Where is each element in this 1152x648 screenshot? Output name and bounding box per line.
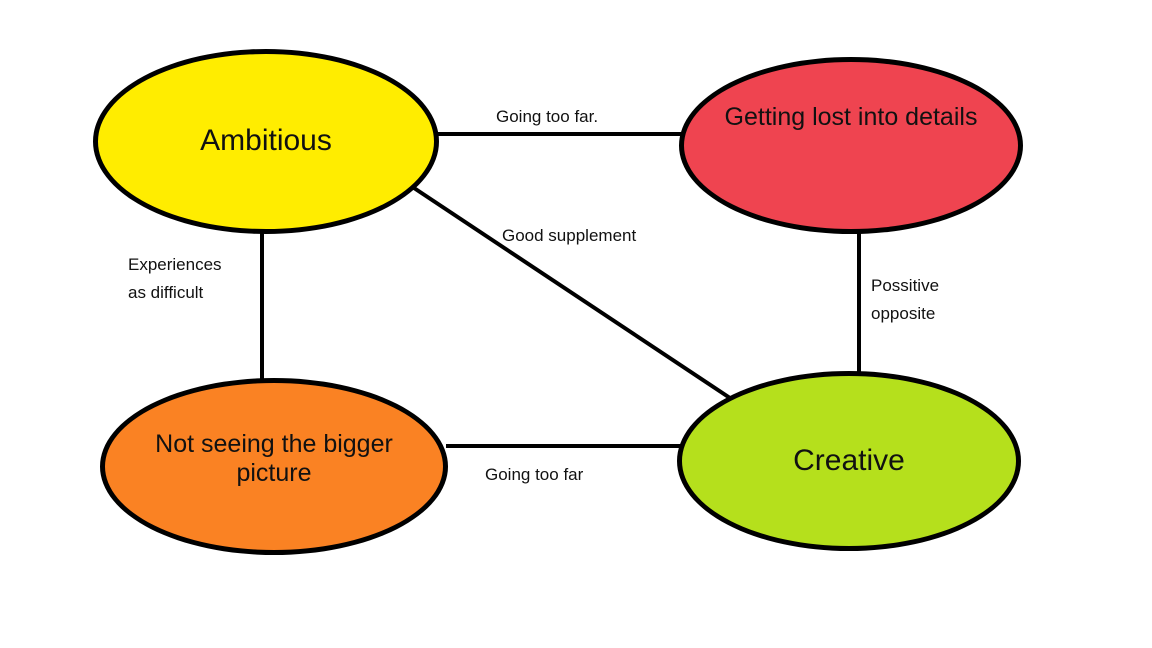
edge-label-bigger-picture-creative: Going too far — [485, 461, 583, 489]
node-getting-lost-into-details-label: Getting lost into details — [707, 103, 996, 132]
node-creative[interactable]: Creative — [677, 371, 1021, 551]
edge-label-ambitious-creative: Good supplement — [502, 222, 636, 250]
node-not-seeing-the-bigger-picture[interactable]: Not seeing the bigger picture — [100, 378, 448, 555]
edge-label-ambitious-details: Going too far. — [496, 103, 598, 131]
node-ambitious-label: Ambitious — [182, 124, 350, 159]
edge-label-details-creative: Possitive opposite — [871, 272, 939, 328]
node-ambitious[interactable]: Ambitious — [93, 49, 439, 234]
node-getting-lost-into-details[interactable]: Getting lost into details — [679, 57, 1023, 234]
diagram-canvas: Ambitious Getting lost into details Not … — [0, 0, 1152, 648]
edge-label-ambitious-bigger-picture: Experiences as difficult — [128, 251, 222, 307]
edge-ambitious-creative — [414, 188, 733, 400]
node-not-seeing-the-bigger-picture-label: Not seeing the bigger picture — [105, 430, 443, 488]
node-creative-label: Creative — [775, 444, 923, 479]
